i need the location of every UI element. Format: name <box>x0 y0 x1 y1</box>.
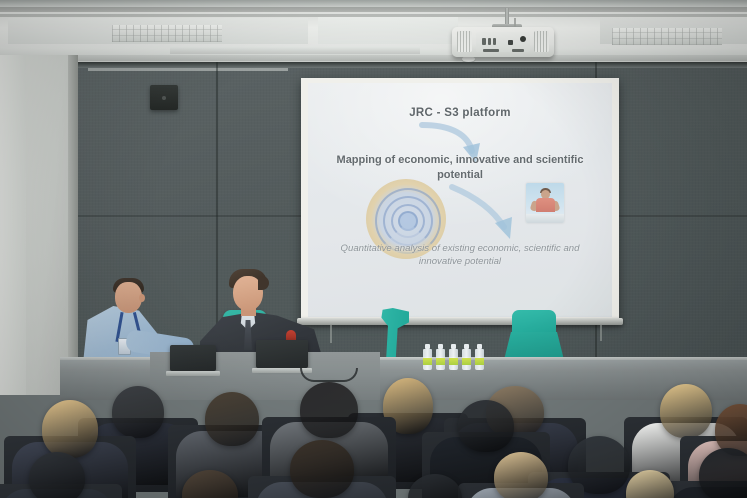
ceiling-panel <box>318 17 458 44</box>
head <box>408 474 462 498</box>
audience-member <box>256 440 388 498</box>
audience-member <box>380 474 490 498</box>
head <box>29 452 85 498</box>
desk-cable <box>300 368 358 382</box>
presentation-slide: JRC - S3 platform Mapping of economic, i… <box>308 83 612 317</box>
water-bottles <box>423 344 489 370</box>
audience-member <box>0 452 114 498</box>
head <box>205 392 259 446</box>
ceiling-beam-back <box>0 55 747 61</box>
wall-speaker <box>150 85 178 110</box>
head <box>42 400 98 458</box>
laptop <box>170 345 216 371</box>
screen-weight-bar <box>297 318 623 325</box>
head <box>300 382 358 438</box>
left-wall-column <box>0 55 26 395</box>
ceiling-light <box>612 28 722 45</box>
laptop <box>256 340 308 368</box>
projection-screen: JRC - S3 platform Mapping of economic, i… <box>301 78 619 321</box>
ceiling-light <box>112 25 222 42</box>
curved-arrow-icon <box>448 183 528 245</box>
slide-bottom-text: Quantitative analysis of existing econom… <box>320 243 600 269</box>
person-at-desk-photo <box>526 183 564 223</box>
audience-member <box>600 470 700 498</box>
screen-cable <box>330 325 332 343</box>
left-wall-edge <box>68 55 78 395</box>
head <box>458 400 514 452</box>
ceiling-beam-front <box>0 0 747 7</box>
wall-light-strip <box>88 68 288 71</box>
audience-member <box>152 470 268 498</box>
head <box>494 452 548 498</box>
head <box>699 448 747 498</box>
screen-cable <box>600 325 602 341</box>
head <box>290 440 354 498</box>
ceiling-vent <box>170 47 420 54</box>
conference-room-photo: JRC - S3 platform Mapping of economic, i… <box>0 0 747 498</box>
ceiling-projector <box>452 27 554 57</box>
slide-title: JRC - S3 platform <box>308 107 612 119</box>
ceiling <box>0 0 747 62</box>
head <box>626 470 674 498</box>
head <box>182 470 238 498</box>
